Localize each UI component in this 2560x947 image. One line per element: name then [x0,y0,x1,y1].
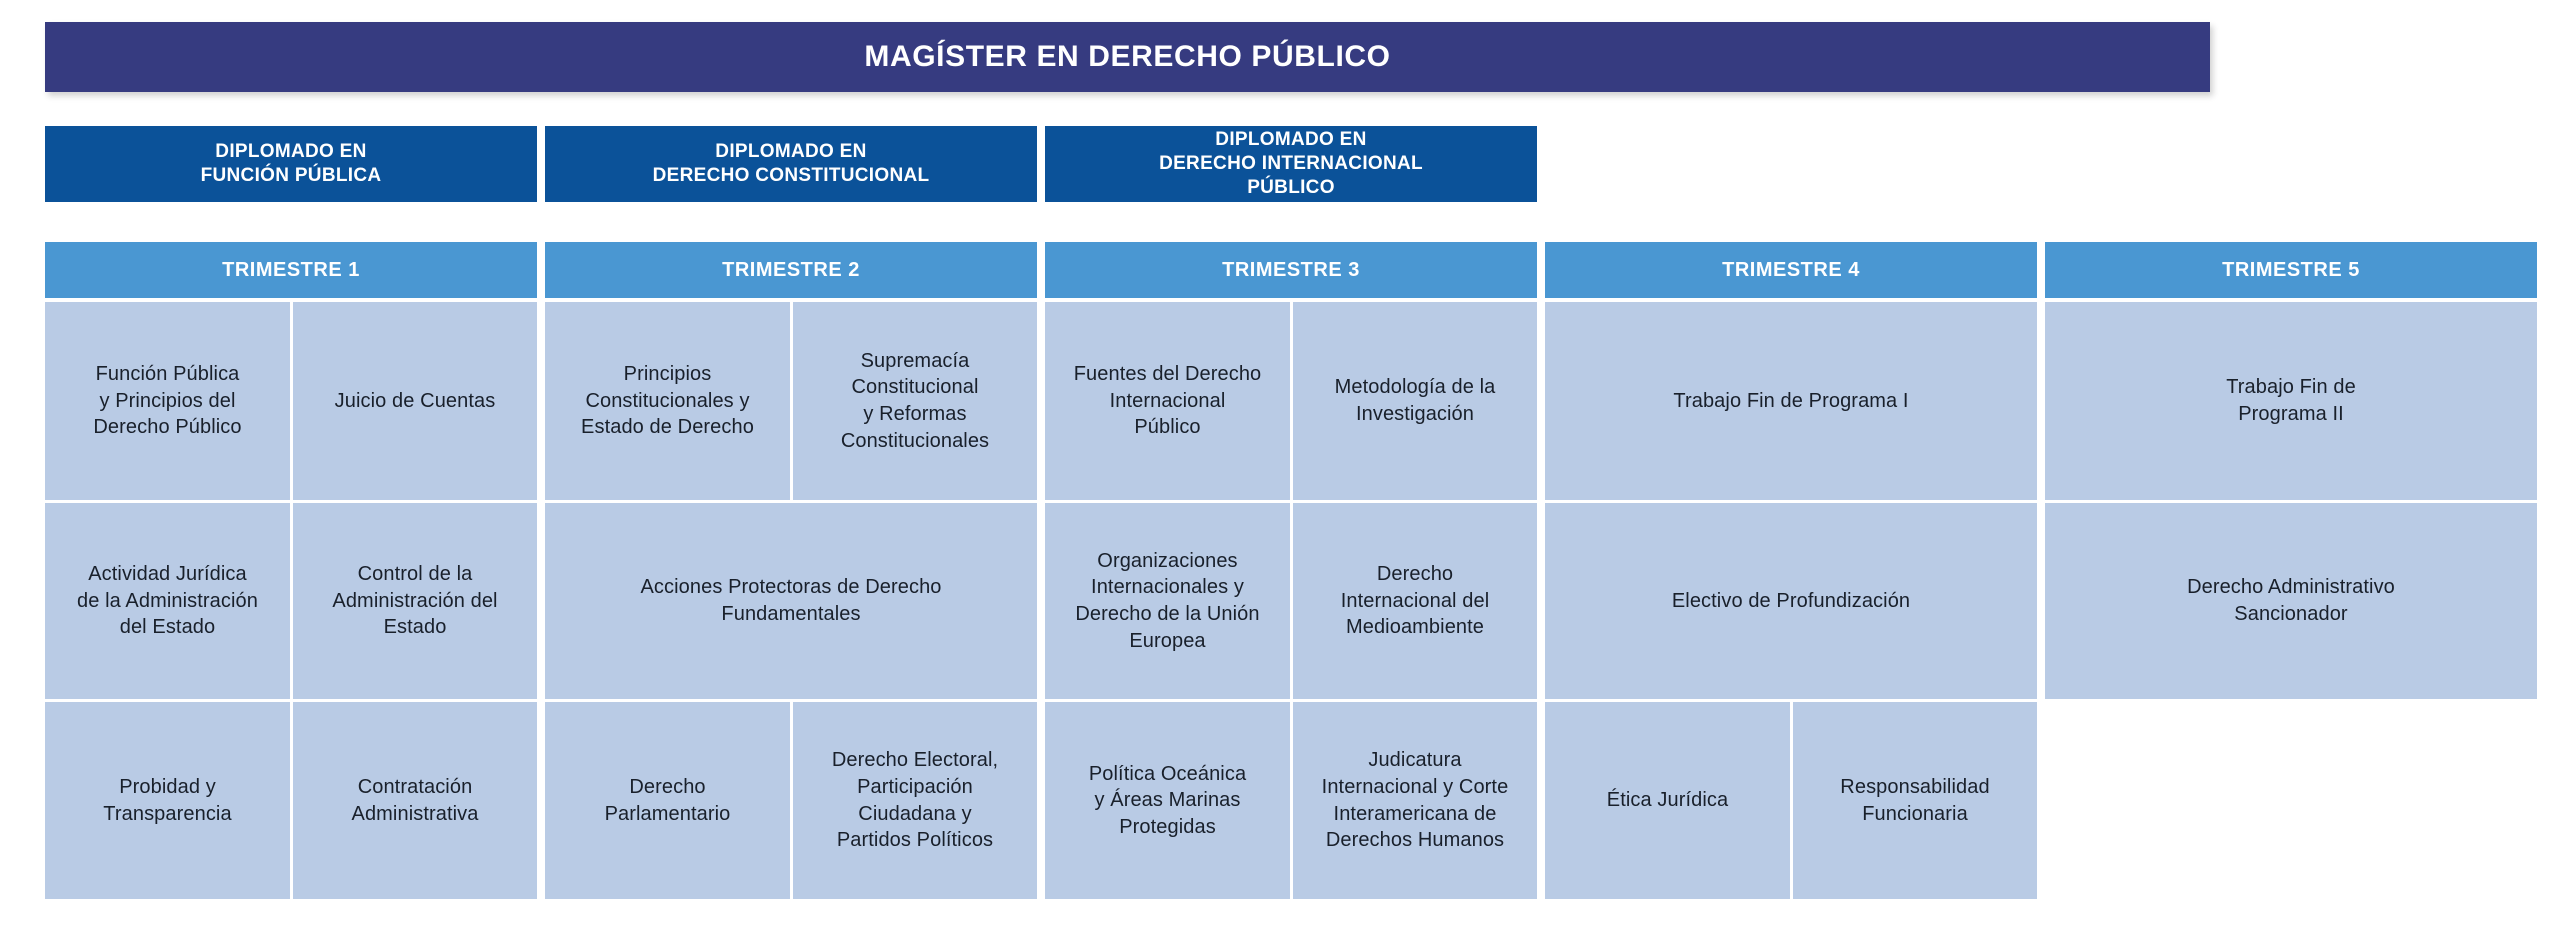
program-title-banner: MAGÍSTER EN DERECHO PÚBLICO [45,22,2210,92]
course-name: Acciones Protectoras de Derecho Fundamen… [630,574,951,627]
course-cell[interactable]: Política Oceánica y Áreas Marinas Proteg… [1045,702,1290,899]
course-name: Supremacía Constitucional y Reformas Con… [831,348,999,454]
course-cell[interactable]: Juicio de Cuentas [293,302,537,500]
course-cell[interactable]: Organizaciones Internacionales y Derecho… [1045,503,1290,699]
diplomado-label: DIPLOMADO EN DERECHO INTERNACIONAL PÚBLI… [1151,128,1431,201]
course-cell[interactable]: Trabajo Fin de Programa I [1545,302,2037,500]
course-cell[interactable]: Función Pública y Principios del Derecho… [45,302,290,500]
trimester-label: TRIMESTRE 1 [222,259,360,282]
diplomado-derecho-internacional-publico[interactable]: DIPLOMADO EN DERECHO INTERNACIONAL PÚBLI… [1045,126,1537,202]
course-cell[interactable]: Trabajo Fin de Programa II [2045,302,2537,500]
course-cell[interactable]: Principios Constitucionales y Estado de … [545,302,790,500]
course-name: Derecho Administrativo Sancionador [2177,574,2405,627]
course-name: Derecho Parlamentario [595,774,741,827]
trimester-label: TRIMESTRE 4 [1722,259,1860,282]
course-name: Responsabilidad Funcionaria [1830,774,1999,827]
course-name: Contratación Administrativa [342,774,489,827]
course-cell[interactable]: Electivo de Profundización [1545,503,2037,699]
trimester-header-3[interactable]: TRIMESTRE 3 [1045,242,1537,298]
diplomado-derecho-constitucional[interactable]: DIPLOMADO EN DERECHO CONSTITUCIONAL [545,126,1037,202]
diplomado-label: DIPLOMADO EN DERECHO CONSTITUCIONAL [645,140,938,189]
course-name: Organizaciones Internacionales y Derecho… [1065,548,1269,654]
course-name: Ética Jurídica [1597,787,1738,814]
course-name: Política Oceánica y Áreas Marinas Proteg… [1079,761,1256,841]
trimester-header-1[interactable]: TRIMESTRE 1 [45,242,537,298]
trimester-label: TRIMESTRE 5 [2222,259,2360,282]
course-cell[interactable]: Probidad y Transparencia [45,702,290,899]
course-name: Trabajo Fin de Programa II [2216,374,2366,427]
course-name: Fuentes del Derecho Internacional Públic… [1064,361,1272,441]
course-name: Judicatura Internacional y Corte Interam… [1312,747,1519,853]
course-name: Derecho Internacional del Medioambiente [1331,561,1499,641]
course-cell[interactable]: Responsabilidad Funcionaria [1793,702,2037,899]
trimester-header-5[interactable]: TRIMESTRE 5 [2045,242,2537,298]
trimester-label: TRIMESTRE 3 [1222,259,1360,282]
trimester-header-4[interactable]: TRIMESTRE 4 [1545,242,2037,298]
course-cell[interactable]: Actividad Jurídica de la Administración … [45,503,290,699]
trimester-header-2[interactable]: TRIMESTRE 2 [545,242,1037,298]
diplomado-funcion-publica[interactable]: DIPLOMADO EN FUNCIÓN PÚBLICA [45,126,537,202]
course-cell[interactable]: Derecho Parlamentario [545,702,790,899]
course-cell[interactable]: Fuentes del Derecho Internacional Públic… [1045,302,1290,500]
course-cell[interactable]: Control de la Administración del Estado [293,503,537,699]
course-cell[interactable]: Derecho Electoral, Participación Ciudada… [793,702,1037,899]
course-name: Actividad Jurídica de la Administración … [67,561,268,641]
course-cell[interactable]: Derecho Administrativo Sancionador [2045,503,2537,699]
course-cell[interactable]: Derecho Internacional del Medioambiente [1293,503,1537,699]
course-name: Metodología de la Investigación [1325,374,1506,427]
course-cell[interactable]: Supremacía Constitucional y Reformas Con… [793,302,1037,500]
course-name: Función Pública y Principios del Derecho… [83,361,251,441]
course-cell[interactable]: Metodología de la Investigación [1293,302,1537,500]
course-name: Derecho Electoral, Participación Ciudada… [822,747,1008,853]
program-title: MAGÍSTER EN DERECHO PÚBLICO [864,40,1390,74]
course-cell[interactable]: Acciones Protectoras de Derecho Fundamen… [545,503,1037,699]
course-name: Trabajo Fin de Programa I [1663,388,1918,415]
curriculum-diagram: MAGÍSTER EN DERECHO PÚBLICO DIPLOMADO EN… [0,0,2560,947]
course-cell[interactable]: Contratación Administrativa [293,702,537,899]
course-cell[interactable]: Ética Jurídica [1545,702,1790,899]
course-name: Probidad y Transparencia [93,774,241,827]
course-cell[interactable]: Judicatura Internacional y Corte Interam… [1293,702,1537,899]
course-name: Control de la Administración del Estado [322,561,507,641]
diplomado-label: DIPLOMADO EN FUNCIÓN PÚBLICA [193,140,390,189]
trimester-label: TRIMESTRE 2 [722,259,860,282]
course-name: Principios Constitucionales y Estado de … [571,361,764,441]
course-name: Juicio de Cuentas [325,388,506,415]
course-name: Electivo de Profundización [1662,588,1920,615]
